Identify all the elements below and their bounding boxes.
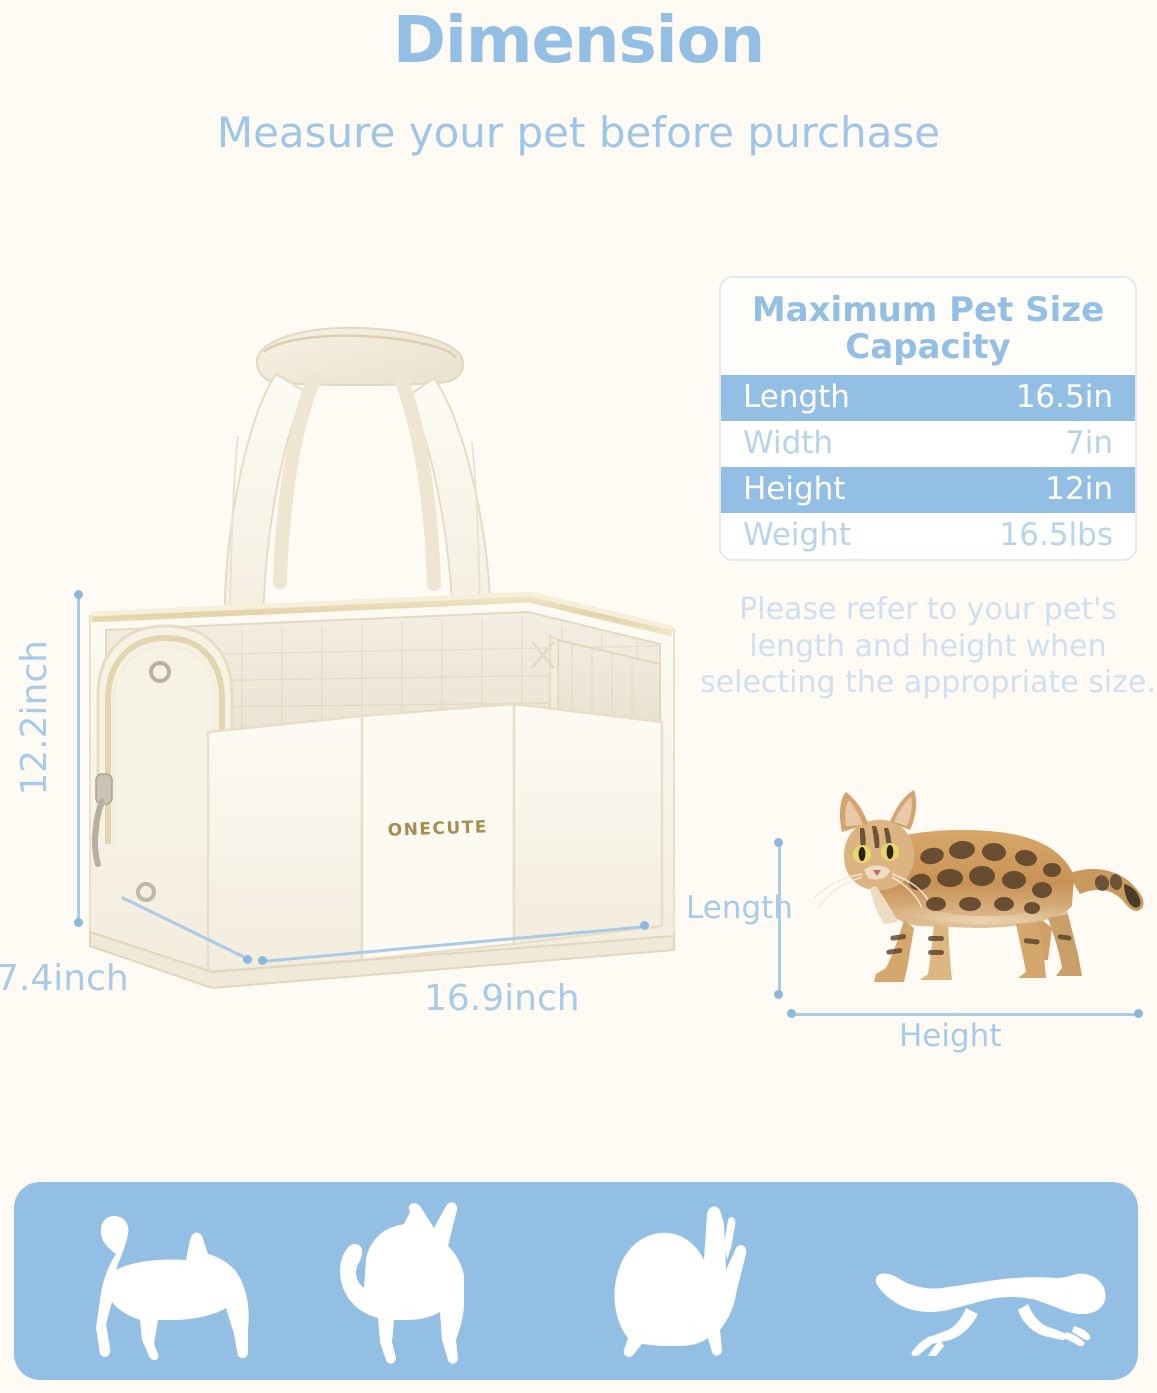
pet-reference-photo <box>780 778 1150 1010</box>
measurement-label-height: 12.2inch <box>14 640 55 796</box>
capacity-row-height-label: Height <box>743 471 845 507</box>
pet-dimension-dot-left <box>787 1009 796 1018</box>
capacity-row-length-label: Length <box>743 379 850 415</box>
pet-carrier-product-image: ONECUTE <box>62 296 702 996</box>
capacity-row-weight-label: Weight <box>743 517 851 553</box>
dimension-dot-length-end <box>640 921 649 930</box>
supported-pets-band <box>14 1182 1138 1380</box>
infographic-canvas: Dimension Measure your pet before purcha… <box>0 0 1157 1393</box>
pet-silhouette-dog <box>294 1200 494 1366</box>
capacity-row-height-value: 12in <box>1045 471 1113 507</box>
pet-dimension-dot-bottom <box>774 990 783 999</box>
pet-dimension-label-vertical: Length <box>686 890 793 926</box>
pet-dimension-dot-right <box>1134 1009 1143 1018</box>
capacity-row-width-value: 7in <box>1065 425 1113 461</box>
capacity-row-weight-value: 16.5lbs <box>1000 517 1113 553</box>
capacity-row-weight: Weight 16.5lbs <box>721 513 1135 559</box>
pet-dimension-label-horizontal: Height <box>899 1018 1001 1054</box>
pet-dimension-line-horizontal <box>790 1013 1140 1016</box>
measurement-label-width: 7.4inch <box>0 958 129 999</box>
capacity-note: Please refer to your pet's length and he… <box>700 592 1156 702</box>
dimension-dot-width-end <box>243 955 252 964</box>
capacity-card-title: Maximum Pet Size Capacity <box>721 278 1135 375</box>
page-subtitle: Measure your pet before purchase <box>0 108 1157 157</box>
pet-silhouette-cat <box>62 1204 292 1364</box>
dimension-dot-height-bottom <box>74 918 83 927</box>
pet-dimension-dot-top <box>774 838 783 847</box>
pet-silhouette-rabbit <box>594 1204 794 1362</box>
capacity-row-length: Length 16.5in <box>721 375 1135 421</box>
capacity-row-width-label: Width <box>743 425 833 461</box>
handle-grip <box>257 328 463 385</box>
dimension-line-height <box>77 594 80 924</box>
dimension-dot-height-top <box>74 590 83 599</box>
capacity-row-length-value: 16.5in <box>1016 379 1113 415</box>
dimension-dot-length-start <box>258 956 267 965</box>
capacity-row-height: Height 12in <box>721 467 1135 513</box>
brand-logo-text: ONECUTE <box>387 817 488 840</box>
page-title: Dimension <box>0 4 1157 78</box>
measurement-label-length: 16.9inch <box>424 978 580 1019</box>
pet-silhouette-lizard <box>870 1270 1110 1356</box>
capacity-row-width: Width 7in <box>721 421 1135 467</box>
capacity-card: Maximum Pet Size Capacity Length 16.5in … <box>719 276 1137 561</box>
